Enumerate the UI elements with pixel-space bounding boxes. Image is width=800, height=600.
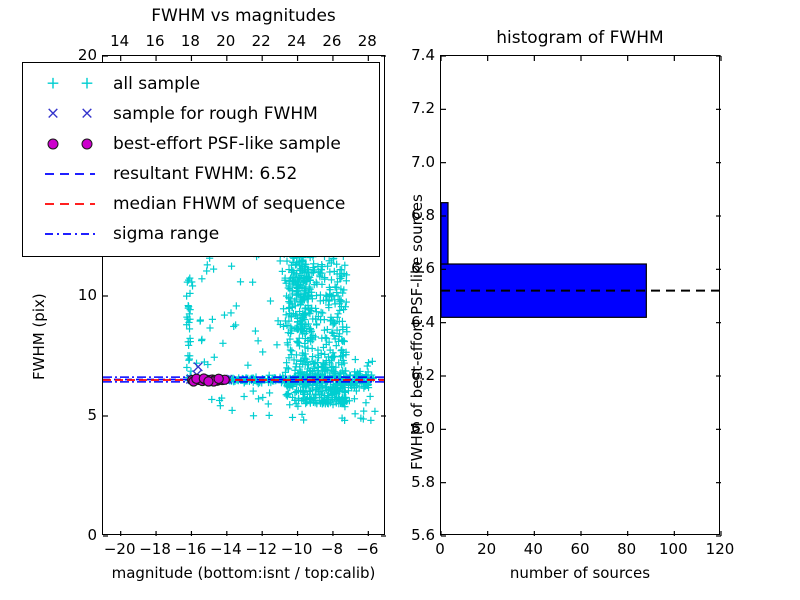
legend-item-label: sample for rough FWHM — [109, 104, 318, 124]
legend-glyph: + — [46, 76, 60, 93]
legend-line — [31, 161, 109, 187]
legend-item-label: resultant FWHM: 6.52 — [109, 164, 297, 184]
legend-item-label: median FHWM of sequence — [109, 194, 345, 214]
cross-marker: ×× — [31, 101, 109, 127]
histogram-of-fwhm-plot[interactable] — [440, 55, 720, 535]
legend-item: best-effort PSF-like sample — [31, 129, 371, 159]
left-x-axis-label: magnitude (bottom:isnt / top:calib) — [102, 564, 385, 582]
dashdot-line — [31, 221, 109, 247]
legend-item: sigma range — [31, 219, 371, 249]
legend-line — [31, 221, 109, 247]
legend-item-label: sigma range — [109, 224, 219, 244]
right-plot-title: histogram of FWHM — [440, 28, 720, 48]
legend-item-label: all sample — [109, 74, 200, 94]
x-tick-label: 120 — [690, 540, 750, 558]
y-tick-label: 7.4 — [375, 46, 435, 64]
y-tick-label: 7.0 — [375, 153, 435, 171]
legend-item: ××sample for rough FWHM — [31, 99, 371, 129]
y-tick-label: 6.4 — [375, 313, 435, 331]
y-tick-label: 6.0 — [375, 419, 435, 437]
y-tick-label: 5.6 — [375, 526, 435, 544]
legend-dot — [48, 139, 59, 150]
legend-glyph: × — [80, 106, 94, 123]
legend-item: median FHWM of sequence — [31, 189, 371, 219]
legend-item: ++all sample — [31, 69, 371, 99]
dashed-line — [31, 191, 109, 217]
legend-item-label: best-effort PSF-like sample — [109, 134, 341, 154]
y-tick-label: 6.6 — [375, 259, 435, 277]
right-axis-ticks — [441, 56, 721, 536]
y-tick-label: 6.8 — [375, 206, 435, 224]
y-tick-label: 7.2 — [375, 99, 435, 117]
plus-marker: ++ — [31, 71, 109, 97]
right-y-axis-label: FWHM of best-effort PSF-like sources — [408, 194, 426, 470]
figure-canvas: FWHM vs magnitudes 1416182022242628 −20−… — [0, 0, 800, 600]
legend-dot — [82, 139, 93, 150]
y-tick-label: 0 — [37, 526, 97, 544]
dashed-line — [31, 161, 109, 187]
legend-item: resultant FWHM: 6.52 — [31, 159, 371, 189]
right-x-axis-label: number of sources — [440, 564, 720, 582]
legend-box: ++all sample××sample for rough FWHMbest-… — [22, 62, 380, 257]
legend-glyph: × — [46, 106, 60, 123]
left-plot-title: FWHM vs magnitudes — [102, 6, 385, 26]
left-y-axis-label: FWHM (pix) — [30, 293, 48, 380]
y-tick-label: 5 — [37, 406, 97, 424]
filled-circle-marker — [31, 131, 109, 157]
y-tick-label: 5.8 — [375, 473, 435, 491]
legend-line — [31, 191, 109, 217]
y-tick-label: 6.2 — [375, 366, 435, 384]
legend-glyph: + — [80, 76, 94, 93]
